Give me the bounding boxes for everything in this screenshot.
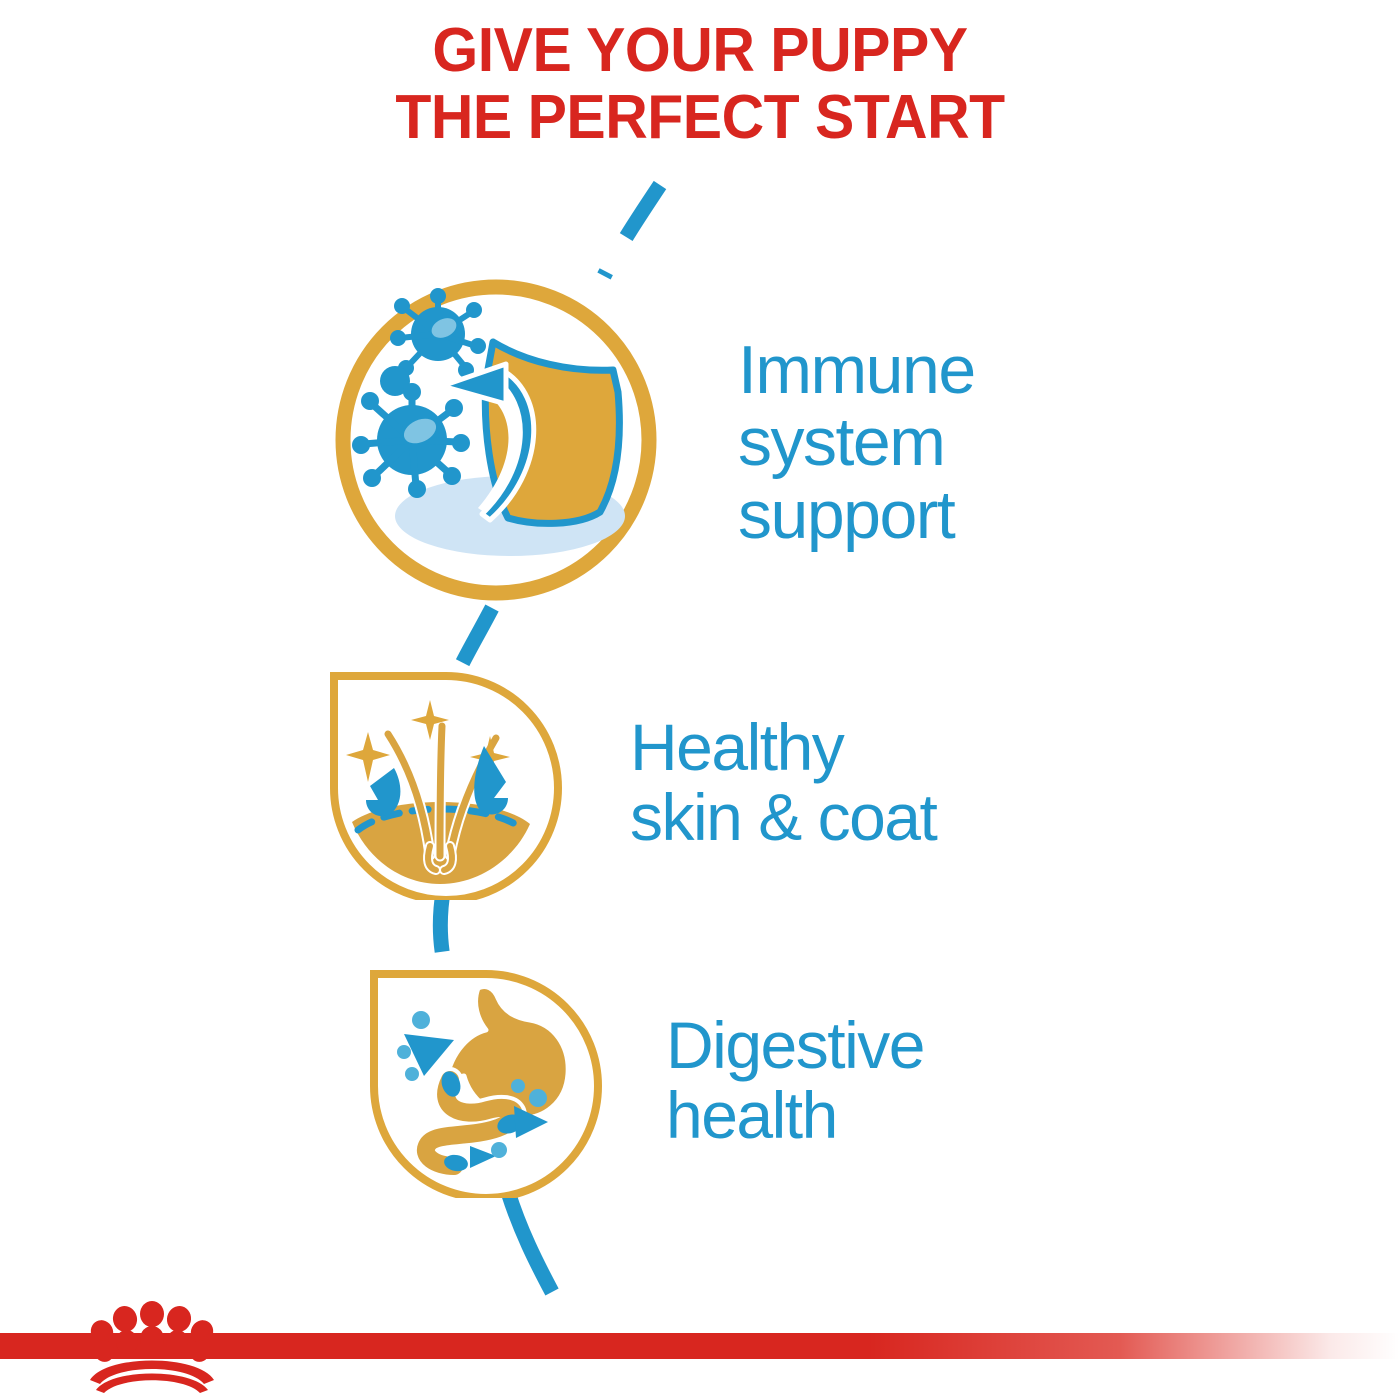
benefit-row-immune: Immune system support bbox=[330, 268, 975, 617]
benefit-label-digest: Digestive health bbox=[666, 1011, 924, 1151]
immune-shield-icon bbox=[330, 268, 666, 617]
skin-coat-hair-follicle-icon bbox=[318, 660, 568, 905]
page-title: GIVE YOUR PUPPY THE PERFECT START bbox=[0, 18, 1400, 152]
benefit-label-immune: Immune system support bbox=[738, 334, 975, 550]
headline-line-2: THE PERFECT START bbox=[35, 85, 1365, 152]
royal-canin-crown-logo bbox=[72, 1298, 232, 1394]
benefit-row-skin: Healthy skin & coat bbox=[318, 660, 936, 905]
digestive-stomach-intestine-icon bbox=[358, 958, 608, 1203]
benefit-label-skin: Healthy skin & coat bbox=[630, 713, 936, 853]
headline-line-1: GIVE YOUR PUPPY bbox=[35, 18, 1365, 85]
benefit-row-digest: Digestive health bbox=[358, 958, 924, 1203]
